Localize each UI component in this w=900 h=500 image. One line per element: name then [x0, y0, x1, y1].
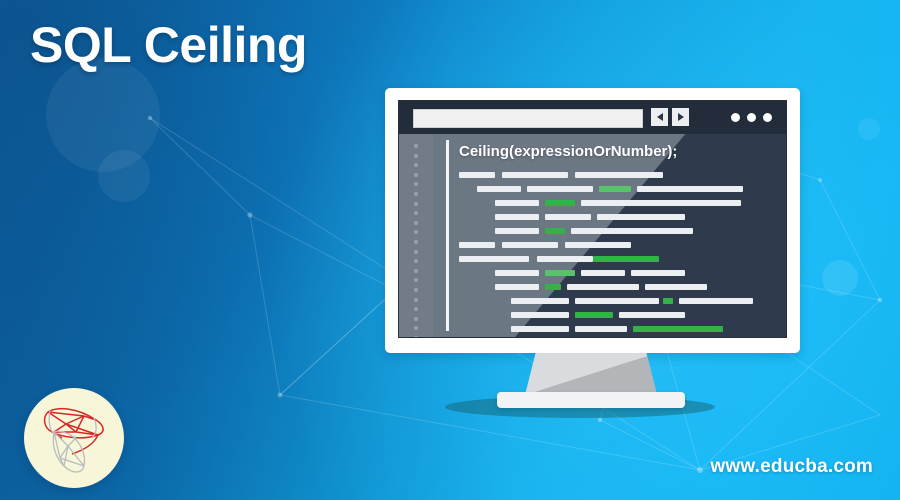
gutter-dot-icon	[414, 317, 418, 321]
code-bar	[567, 284, 639, 290]
nav-forward-button[interactable]	[672, 108, 689, 126]
browser-toolbar	[399, 101, 786, 134]
code-bar	[633, 326, 723, 332]
gutter-dot-icon	[414, 144, 418, 148]
poster-canvas: SQL Ceiling	[0, 0, 900, 500]
gutter-dot-icon	[414, 298, 418, 302]
code-bar	[657, 200, 741, 206]
sql-server-logo	[24, 388, 124, 488]
code-bar	[545, 214, 591, 220]
website-url: www.educba.com	[710, 456, 873, 478]
code-bar	[495, 228, 539, 234]
code-bar	[477, 186, 521, 192]
code-bar	[581, 200, 669, 206]
monitor-stand-shade	[525, 353, 657, 395]
gutter-dot-icon	[414, 250, 418, 254]
gutter-dot-icon	[414, 202, 418, 206]
code-bar	[545, 270, 575, 276]
decorative-circle-2	[98, 150, 150, 202]
code-bar	[502, 172, 568, 178]
gutter-dot-icon	[414, 163, 418, 167]
code-bar	[619, 312, 685, 318]
code-bar	[663, 298, 673, 304]
gutter-dot-icon	[414, 326, 418, 330]
code-bar	[631, 270, 685, 276]
gutter-dot-icon	[414, 336, 418, 338]
gutter-dot-icon	[414, 288, 418, 292]
code-bar	[575, 326, 627, 332]
code-bar	[511, 312, 569, 318]
code-bar	[599, 186, 631, 192]
code-bar	[495, 284, 539, 290]
gutter-dot-icon	[414, 211, 418, 215]
decorative-circle-4	[858, 118, 880, 140]
window-dot-1-icon[interactable]	[731, 113, 740, 122]
gutter-dot-icon	[414, 173, 418, 177]
monitor-base	[497, 392, 685, 408]
line-number-gutter	[399, 134, 433, 337]
monitor-illustration: Ceiling(expressionOrNumber);	[385, 88, 800, 353]
code-bar	[581, 270, 625, 276]
nav-buttons	[651, 108, 689, 126]
gutter-divider	[446, 140, 449, 331]
page-title: SQL Ceiling	[30, 16, 307, 74]
monitor-screen: Ceiling(expressionOrNumber);	[398, 100, 787, 338]
code-bar	[511, 298, 569, 304]
code-bar	[495, 270, 539, 276]
code-bar	[545, 228, 565, 234]
code-bar	[565, 242, 631, 248]
code-bar	[589, 228, 693, 234]
gutter-dot-icon	[414, 307, 418, 311]
code-bar	[527, 186, 593, 192]
gutter-dot-icon	[414, 192, 418, 196]
code-bar	[637, 186, 743, 192]
window-control-dots	[731, 113, 772, 122]
code-bar	[575, 172, 663, 178]
code-bar	[459, 256, 529, 262]
code-bar	[495, 214, 539, 220]
code-bar	[645, 284, 707, 290]
gutter-dot-icon	[414, 154, 418, 158]
sql-server-logo-mark	[24, 388, 124, 488]
code-bar	[459, 242, 495, 248]
gutter-dot-icon	[414, 221, 418, 225]
window-dot-2-icon[interactable]	[747, 113, 756, 122]
gutter-dot-icon	[414, 240, 418, 244]
code-bar	[597, 214, 685, 220]
code-bar	[575, 312, 613, 318]
decorative-circle-1	[46, 58, 160, 172]
code-bar	[593, 256, 659, 262]
triangle-forward-icon	[678, 113, 684, 121]
triangle-left-icon	[657, 113, 663, 121]
code-bar	[545, 284, 561, 290]
nav-back-button[interactable]	[651, 108, 668, 126]
gutter-dot-icon	[414, 182, 418, 186]
code-bar	[511, 326, 569, 332]
code-bar	[537, 256, 593, 262]
decorative-circle-3	[822, 260, 858, 296]
code-bar	[502, 242, 558, 248]
code-bar	[459, 172, 495, 178]
window-dot-3-icon[interactable]	[763, 113, 772, 122]
code-bar	[545, 200, 575, 206]
gutter-dot-icon	[414, 269, 418, 273]
code-editor-area: Ceiling(expressionOrNumber);	[399, 134, 786, 337]
gutter-dot-icon	[414, 230, 418, 234]
monitor-stand	[525, 353, 657, 395]
code-bar	[575, 298, 659, 304]
gutter-dot-icon	[414, 259, 418, 263]
code-signature-text: Ceiling(expressionOrNumber);	[459, 143, 677, 160]
code-bar	[495, 200, 539, 206]
gutter-dot-icon	[414, 278, 418, 282]
diagonal-highlight-overlay	[399, 134, 786, 337]
code-bar	[679, 298, 753, 304]
address-bar[interactable]	[413, 109, 643, 128]
